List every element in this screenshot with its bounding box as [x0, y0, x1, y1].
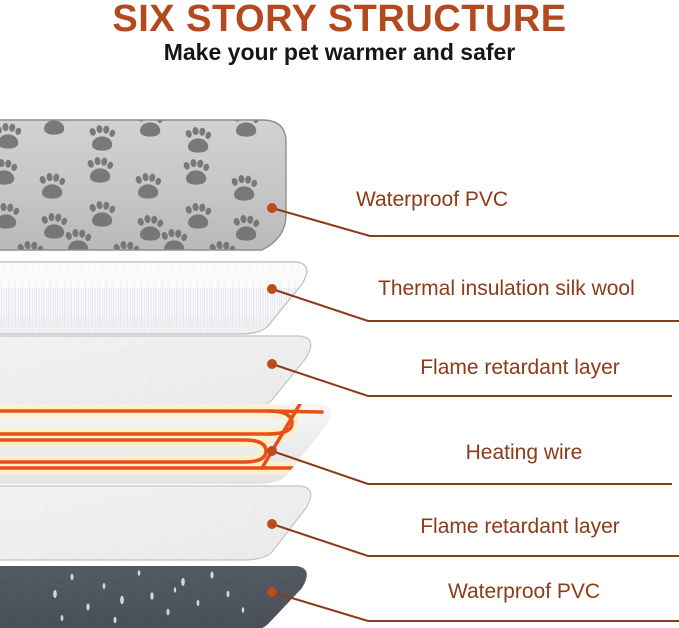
layer-3-flame-retardant: [0, 336, 311, 408]
label-layer-4-heating-wire: Heating wire: [466, 441, 583, 465]
leader-dot-2: [267, 284, 277, 294]
leader-dot-1: [267, 203, 277, 213]
leader-line-1: [272, 208, 679, 236]
leader-dot-6: [267, 587, 277, 597]
layer-6-waterproof-pvc: [0, 566, 307, 628]
layer-1-waterproof-pvc: [0, 109, 286, 267]
label-layer-6-waterproof-pvc: Waterproof PVC: [448, 580, 600, 604]
label-layer-3-flame-retardant: Flame retardant layer: [420, 356, 620, 380]
label-layer-1-waterproof-pvc: Waterproof PVC: [356, 188, 508, 212]
leader-lines: [272, 208, 679, 621]
leader-dot-5: [267, 519, 277, 529]
leader-dot-4: [267, 446, 277, 456]
layer-2-thermal-insulation-silk-wool: [0, 262, 340, 336]
label-layer-5-flame-retardant: Flame retardant layer: [420, 515, 620, 539]
infographic-canvas: SIX STORY STRUCTURE Make your pet warmer…: [0, 0, 679, 628]
label-layer-2-thermal-insulation-silk-wool: Thermal insulation silk wool: [378, 277, 635, 301]
layer-4-heating-wire: [0, 404, 331, 484]
layer-5-flame-retardant: [0, 486, 311, 560]
leader-dot-3: [267, 359, 277, 369]
